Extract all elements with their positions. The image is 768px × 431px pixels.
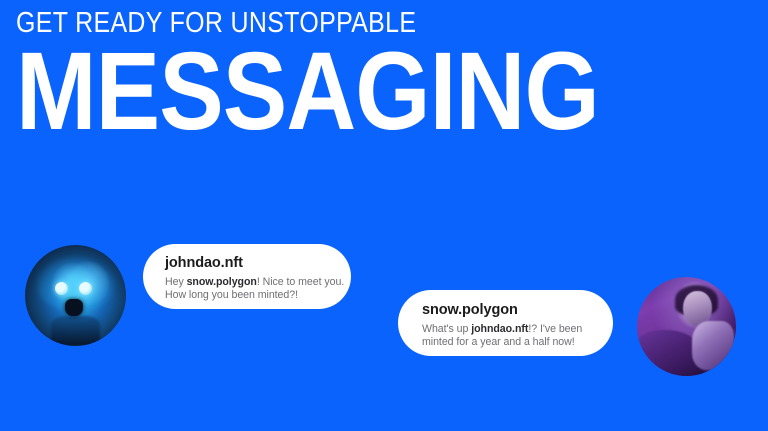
- message-mention: johndao.nft: [471, 323, 528, 335]
- message-text-prefix: Hey: [165, 276, 187, 288]
- purple-knight-avatar: [637, 277, 736, 376]
- promo-banner: GET READY FOR UNSTOPPABLE MESSAGING john…: [0, 0, 768, 431]
- blue-creature-avatar: [25, 245, 126, 346]
- message-text-suffix: !? I've been: [528, 323, 582, 335]
- chat-bubble-johndao: johndao.nft Hey snow.polygon! Nice to me…: [143, 244, 351, 309]
- message-line-1: What's up johndao.nft!? I've been: [422, 323, 582, 335]
- chat-message-body: What's up johndao.nft!? I've been minted…: [422, 323, 589, 350]
- chat-message-body: Hey snow.polygon! Nice to meet you. How …: [165, 276, 329, 303]
- page-title: MESSAGING: [16, 41, 700, 143]
- message-mention: snow.polygon: [187, 276, 257, 288]
- message-line-2: How long you been minted?!: [165, 289, 298, 301]
- hero-heading-block: GET READY FOR UNSTOPPABLE MESSAGING: [16, 8, 752, 137]
- chat-sender-name: johndao.nft: [165, 254, 329, 272]
- avatar-armor-shape: [692, 321, 734, 371]
- message-line-2: minted for a year and a half now!: [422, 336, 575, 348]
- avatar-mouth-icon: [65, 299, 82, 316]
- chat-sender-name: snow.polygon: [422, 301, 589, 319]
- message-line-1: Hey snow.polygon! Nice to meet you.: [165, 276, 344, 288]
- message-text-prefix: What's up: [422, 323, 471, 335]
- avatar-body-shape: [51, 316, 99, 346]
- chat-bubble-snow: snow.polygon What's up johndao.nft!? I'v…: [398, 290, 613, 356]
- message-text-suffix: ! Nice to meet you.: [257, 276, 344, 288]
